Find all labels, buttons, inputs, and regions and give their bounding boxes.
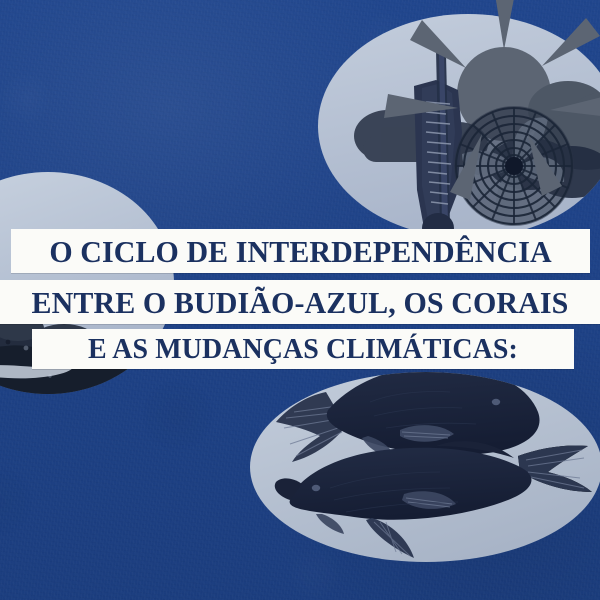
headline-line-1: O CICLO DE INTERDEPENDÊNCIA [21,236,580,267]
headline-band-2: ENTRE O BUDIÃO-AZUL, OS CORAIS [0,280,600,324]
headline-band-3: E AS MUDANÇAS CLIMÁTICAS: [32,329,574,369]
headline-line-2: ENTRE O BUDIÃO-AZUL, OS CORAIS [4,287,596,318]
poster-canvas: O CICLO DE INTERDEPENDÊNCIA ENTRE O BUDI… [0,0,600,600]
headline-line-3: E AS MUDANÇAS CLIMÁTICAS: [42,335,564,364]
headline-band-1: O CICLO DE INTERDEPENDÊNCIA [11,229,590,273]
climate-collage [318,14,600,244]
parrotfish-collage [250,372,600,562]
